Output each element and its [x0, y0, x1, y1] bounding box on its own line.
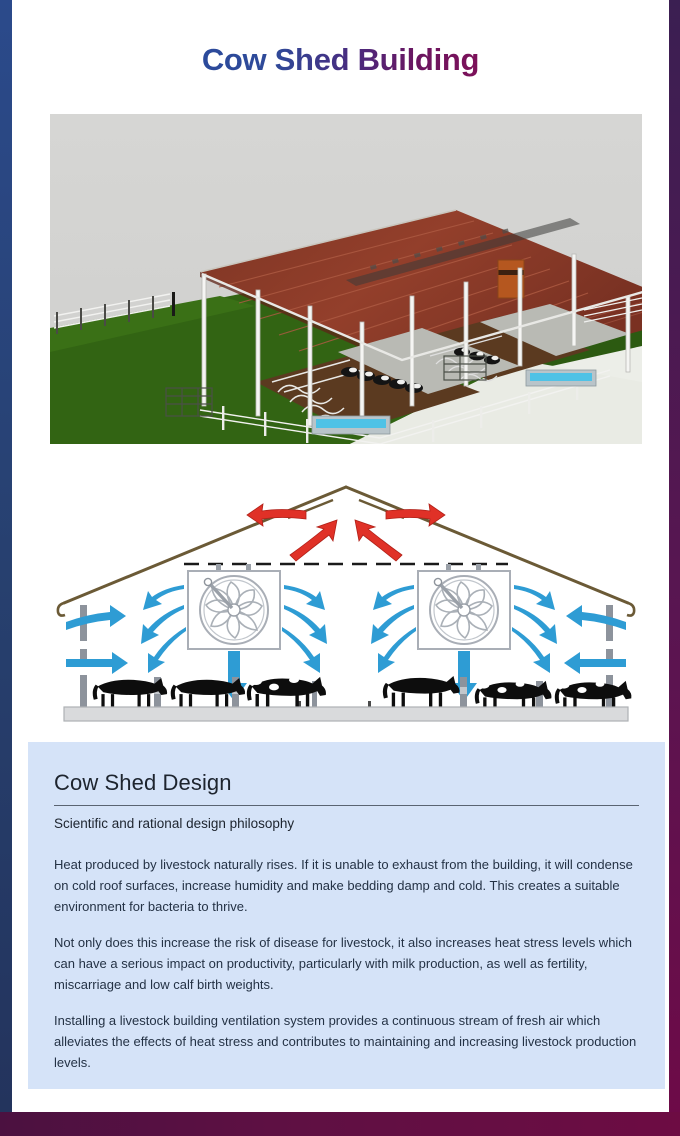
panel-paragraph-1: Heat produced by livestock naturally ris… — [54, 854, 639, 917]
page-title: Cow Shed Building — [202, 42, 479, 78]
ventilation-airflow-diagram-image — [50, 465, 642, 725]
panel-content: Cow Shed Design Scientific and rational … — [28, 742, 665, 1093]
bottom-border-stripe — [0, 1112, 680, 1136]
page-root: Cow Shed Building — [0, 0, 680, 1136]
panel-heading: Cow Shed Design — [54, 770, 639, 796]
right-border-stripe — [669, 0, 680, 1136]
panel-paragraph-2: Not only does this increase the risk of … — [54, 932, 639, 995]
cow-shed-design-panel: Cow Shed Design Scientific and rational … — [28, 742, 665, 1089]
page-content-area: Cow Shed Building — [12, 0, 669, 1112]
cow-shed-3d-render-image — [50, 114, 642, 444]
panel-subtitle: Scientific and rational design philosoph… — [54, 816, 639, 831]
left-border-stripe — [0, 0, 12, 1136]
panel-divider — [54, 805, 639, 806]
panel-paragraph-3: Installing a livestock building ventilat… — [54, 1010, 639, 1073]
page-title-container: Cow Shed Building — [12, 42, 669, 78]
